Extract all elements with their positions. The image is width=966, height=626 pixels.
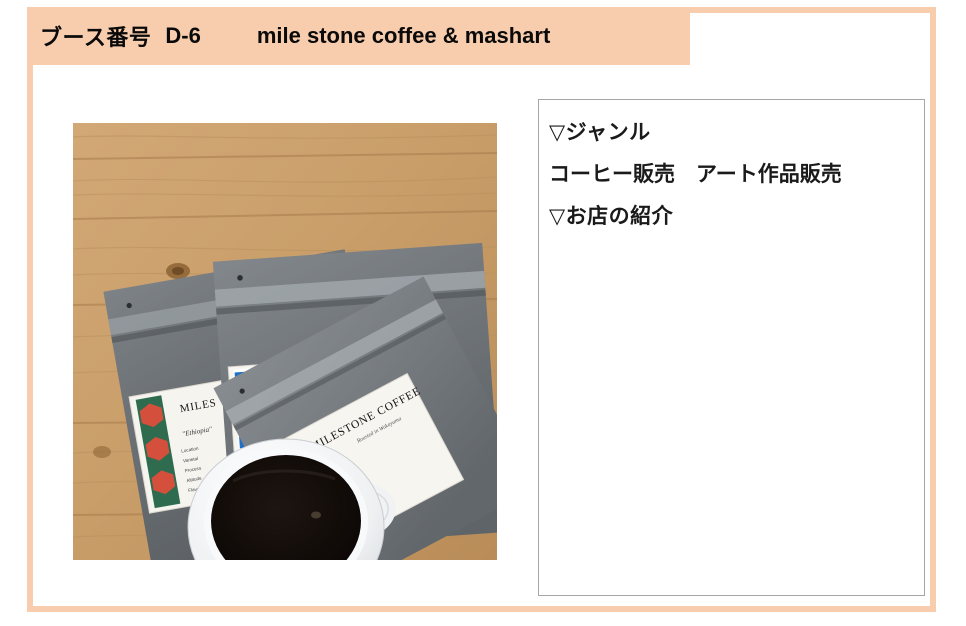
booth-number-label: ブース番号 [40, 20, 151, 52]
shop-intro-heading: ▽お店の紹介 [549, 196, 924, 238]
booth-product-photo: MILES "Ethiopia" Location Varietal Proce… [73, 123, 497, 560]
info-panel: ▽ジャンル コーヒー販売 アート作品販売 ▽お店の紹介 [538, 99, 925, 596]
exhibitor-name: mile stone coffee & mashart [257, 23, 550, 49]
genre-heading: ▽ジャンル [549, 112, 924, 154]
booth-number-value: D-6 [165, 23, 200, 49]
header-band: ブース番号 D-6 mile stone coffee & mashart [27, 7, 690, 65]
genre-values: コーヒー販売 アート作品販売 [549, 154, 924, 196]
